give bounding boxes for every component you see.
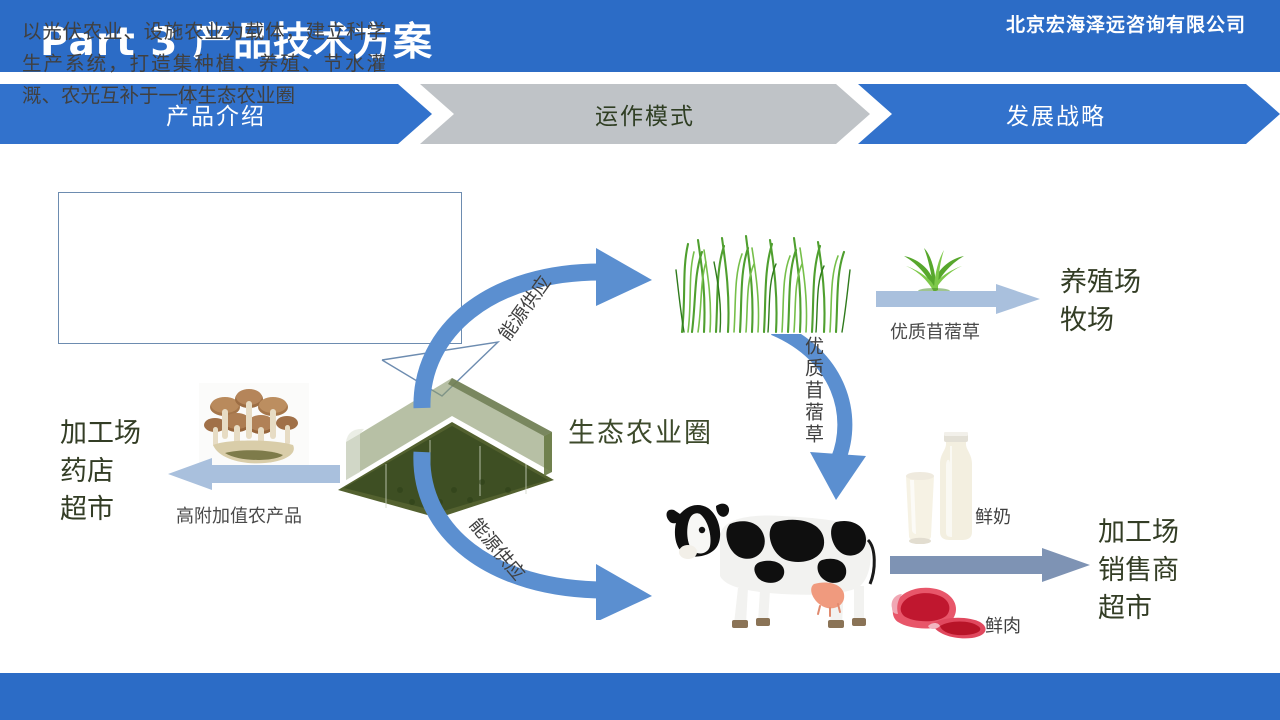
top-right-destination-line-1: 养殖场 bbox=[1060, 264, 1141, 302]
nav-tab-development-strategy[interactable]: 发展战略 bbox=[858, 84, 1280, 144]
nav-tab-label: 发展战略 bbox=[1006, 97, 1106, 131]
footer-company-name: 北京宏海泽远咨询有限公司 bbox=[1006, 10, 1246, 37]
fresh-meat-label: 鲜肉 bbox=[985, 612, 1021, 638]
energy-flow-arrow-down bbox=[400, 440, 700, 620]
left-destination-line-3: 超市 bbox=[60, 491, 141, 529]
holstein-cow-image bbox=[664, 492, 880, 632]
nav-tab-operation-mode[interactable]: 运作模式 bbox=[420, 84, 870, 144]
left-destination-line-2: 药店 bbox=[60, 453, 141, 491]
grass-image bbox=[672, 222, 852, 334]
product-to-market-arrow bbox=[890, 548, 1090, 582]
left-arrow-label: 高附加值农产品 bbox=[176, 502, 302, 528]
beef-image bbox=[888, 578, 996, 640]
high-value-product-arrow bbox=[168, 458, 340, 490]
bottom-right-destination-line-3: 超市 bbox=[1098, 590, 1179, 628]
footer-bar bbox=[0, 673, 1280, 720]
fresh-milk-label: 鲜奶 bbox=[975, 503, 1011, 529]
slide-canvas: Part 3 产品技术方案 产品介绍 运作模式 发展战略 以光伏农业、设施农业为… bbox=[0, 0, 1280, 720]
bottom-right-destination-line-2: 销售商 bbox=[1098, 552, 1179, 590]
alfalfa-flow-arrow bbox=[760, 320, 900, 510]
left-destination-label: 加工场 药店 超市 bbox=[60, 415, 141, 529]
bottom-right-destination-label: 加工场 销售商 超市 bbox=[1098, 514, 1179, 628]
energy-flow-arrow-up bbox=[400, 240, 700, 420]
nav-tab-label: 运作模式 bbox=[595, 97, 695, 131]
center-concept-label: 生态农业圈 bbox=[568, 411, 713, 450]
description-callout-text: 以光伏农业、设施农业为载体，建立科学生产系统，打造集种植、养殖、节水灌溉、农光互… bbox=[22, 16, 386, 112]
top-right-destination-label: 养殖场 牧场 bbox=[1060, 264, 1141, 340]
top-right-arrow-label: 优质苜蓿草 bbox=[890, 318, 980, 344]
top-right-destination-line-2: 牧场 bbox=[1060, 302, 1141, 340]
left-destination-line-1: 加工场 bbox=[60, 415, 141, 453]
bottom-right-destination-line-1: 加工场 bbox=[1098, 514, 1179, 552]
alfalfa-supply-arrow bbox=[876, 284, 1040, 314]
flow-label-quality-alfalfa: 优质苜蓿草 bbox=[800, 336, 827, 486]
